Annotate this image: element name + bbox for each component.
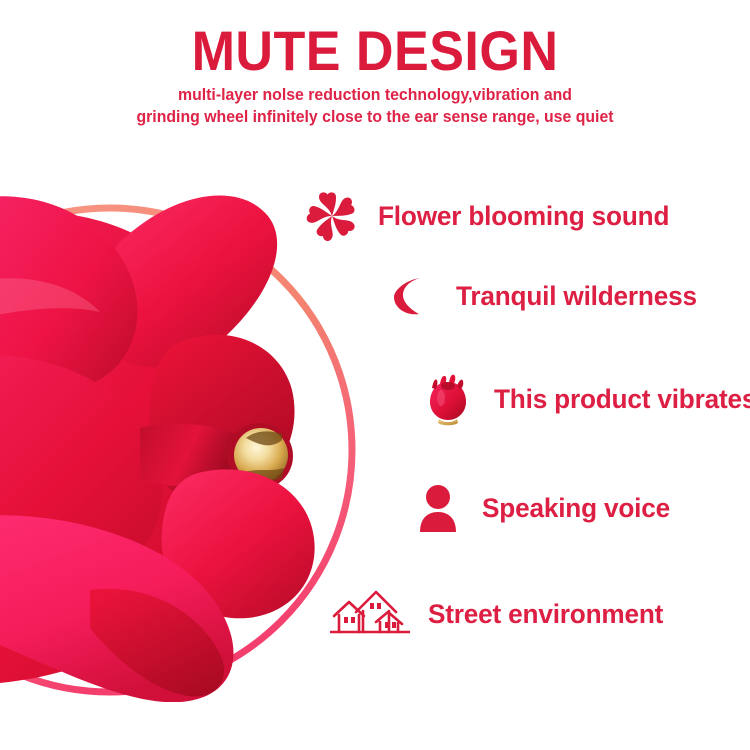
person-icon <box>414 482 462 534</box>
feature-item-speaking-voice[interactable]: Speaking voice <box>414 482 676 534</box>
feature-item-tranquil-wilderness[interactable]: Tranquil wilderness <box>386 272 704 320</box>
subtitle-line-2: grinding wheel infinitely close to the e… <box>68 107 682 129</box>
subtitle: multi-layer nolse reduction technology,v… <box>68 85 682 129</box>
feature-label: Street environment <box>428 599 663 630</box>
crescent-moon-icon <box>386 272 434 320</box>
rose-product-icon <box>424 370 472 428</box>
feature-label: This product vibrates <box>494 384 750 415</box>
feature-item-this-product-vibrates[interactable]: This product vibrates <box>424 370 750 428</box>
feature-label: Tranquil wilderness <box>456 281 697 312</box>
header: MUTE DESIGN multi-layer nolse reduction … <box>0 0 750 129</box>
subtitle-line-1: multi-layer nolse reduction technology,v… <box>68 85 682 107</box>
feature-label: Flower blooming sound <box>378 201 669 232</box>
flower-icon <box>306 190 358 242</box>
feature-list: Flower blooming sound Tranquil wildernes… <box>0 190 750 670</box>
feature-item-flower-blooming-sound[interactable]: Flower blooming sound <box>306 190 678 242</box>
mute-design-poster: MUTE DESIGN multi-layer nolse reduction … <box>0 0 750 750</box>
feature-item-street-environment[interactable]: Street environment <box>330 586 670 642</box>
houses-icon <box>330 586 410 642</box>
page-title: MUTE DESIGN <box>26 0 724 79</box>
feature-label: Speaking voice <box>482 493 670 524</box>
